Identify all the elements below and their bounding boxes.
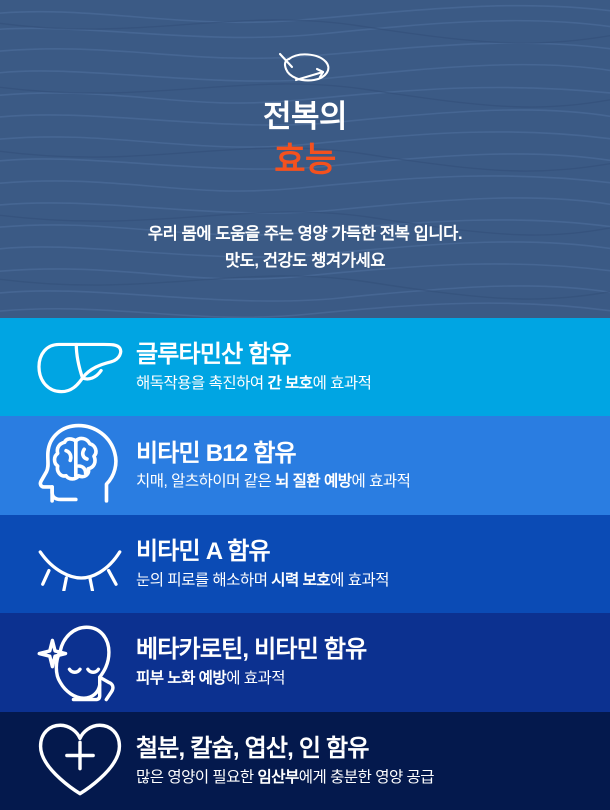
page-title-line1: 전복의 <box>263 98 347 137</box>
benefit-desc-highlight: 시력 보호 <box>271 572 330 589</box>
benefit-row-beta-carotene[interactable]: 베타카로틴, 비타민 함유 피부 노화 예방에 효과적 <box>0 613 610 711</box>
benefit-description: 피부 노화 예방에 효과적 <box>136 669 610 688</box>
benefit-desc-highlight: 피부 노화 예방 <box>136 670 226 687</box>
benefit-title: 철분, 칼슘, 엽산, 인 함유 <box>136 735 610 764</box>
benefit-desc-post: 에 효과적 <box>226 670 285 687</box>
page-title-line2: 효능 <box>274 139 336 182</box>
header-subtitle: 우리 몸에 도움을 주는 영양 가득한 전복 입니다. 맛도, 건강도 챙겨가세… <box>148 221 462 275</box>
benefit-list: 글루타민산 함유 해독작용을 촉진하여 간 보호에 효과적 비타민 B12 함유 <box>0 318 610 810</box>
benefit-desc-pre: 눈의 피로를 해소하며 <box>136 572 271 589</box>
benefit-title: 베타카로틴, 비타민 함유 <box>136 636 610 665</box>
header-section: 전복의 효능 우리 몸에 도움을 주는 영양 가득한 전복 입니다. 맛도, 건… <box>0 0 610 318</box>
benefit-desc-pre: 치매, 알츠하이머 같은 <box>136 473 275 490</box>
benefit-title: 비타민 A 함유 <box>136 538 610 567</box>
benefit-desc-post: 에 효과적 <box>313 375 372 392</box>
abalone-icon <box>276 50 334 90</box>
benefit-row-vitamin-a[interactable]: 비타민 A 함유 눈의 피로를 해소하며 시력 보호에 효과적 <box>0 515 610 613</box>
benefit-text-iron-calcium: 철분, 칼슘, 엽산, 인 함유 많은 영양이 필요한 임산부에게 충분한 영양… <box>126 735 610 787</box>
benefit-desc-post: 에 효과적 <box>352 473 411 490</box>
benefit-description: 눈의 피로를 해소하며 시력 보호에 효과적 <box>136 571 610 590</box>
benefit-row-glutamic-acid[interactable]: 글루타민산 함유 해독작용을 촉진하여 간 보호에 효과적 <box>0 318 610 416</box>
benefit-desc-highlight: 간 보호 <box>267 375 312 392</box>
benefit-description: 치매, 알츠하이머 같은 뇌 질환 예방에 효과적 <box>136 472 610 491</box>
closed-eye-icon <box>34 528 126 600</box>
header-subtitle-line2: 맛도, 건강도 챙겨가세요 <box>148 248 462 275</box>
benefit-row-iron-calcium[interactable]: 철분, 칼슘, 엽산, 인 함유 많은 영양이 필요한 임산부에게 충분한 영양… <box>0 712 610 810</box>
liver-icon <box>34 331 126 403</box>
benefit-row-vitamin-b12[interactable]: 비타민 B12 함유 치매, 알츠하이머 같은 뇌 질환 예방에 효과적 <box>0 416 610 514</box>
brain-head-icon <box>34 430 126 502</box>
face-sparkle-icon <box>34 626 126 698</box>
benefit-desc-highlight: 임산부 <box>258 769 299 786</box>
benefit-text-beta-carotene: 베타카로틴, 비타민 함유 피부 노화 예방에 효과적 <box>126 636 610 688</box>
heart-plus-icon <box>34 725 126 797</box>
benefit-desc-post: 에 효과적 <box>330 572 389 589</box>
benefit-title: 글루타민산 함유 <box>136 341 610 370</box>
infographic-page: 전복의 효능 우리 몸에 도움을 주는 영양 가득한 전복 입니다. 맛도, 건… <box>0 0 610 810</box>
header-subtitle-line1: 우리 몸에 도움을 주는 영양 가득한 전복 입니다. <box>148 221 462 248</box>
benefit-desc-highlight: 뇌 질환 예방 <box>275 473 351 490</box>
benefit-text-glutamic-acid: 글루타민산 함유 해독작용을 촉진하여 간 보호에 효과적 <box>126 341 610 393</box>
benefit-desc-pre: 해독작용을 촉진하여 <box>136 375 267 392</box>
benefit-text-vitamin-a: 비타민 A 함유 눈의 피로를 해소하며 시력 보호에 효과적 <box>126 538 610 590</box>
benefit-description: 많은 영양이 필요한 임산부에게 충분한 영양 공급 <box>136 768 610 787</box>
benefit-title: 비타민 B12 함유 <box>136 440 610 469</box>
benefit-description: 해독작용을 촉진하여 간 보호에 효과적 <box>136 374 610 393</box>
benefit-desc-pre: 많은 영양이 필요한 <box>136 769 258 786</box>
benefit-desc-post: 에게 충분한 영양 공급 <box>299 769 434 786</box>
benefit-text-vitamin-b12: 비타민 B12 함유 치매, 알츠하이머 같은 뇌 질환 예방에 효과적 <box>126 440 610 492</box>
